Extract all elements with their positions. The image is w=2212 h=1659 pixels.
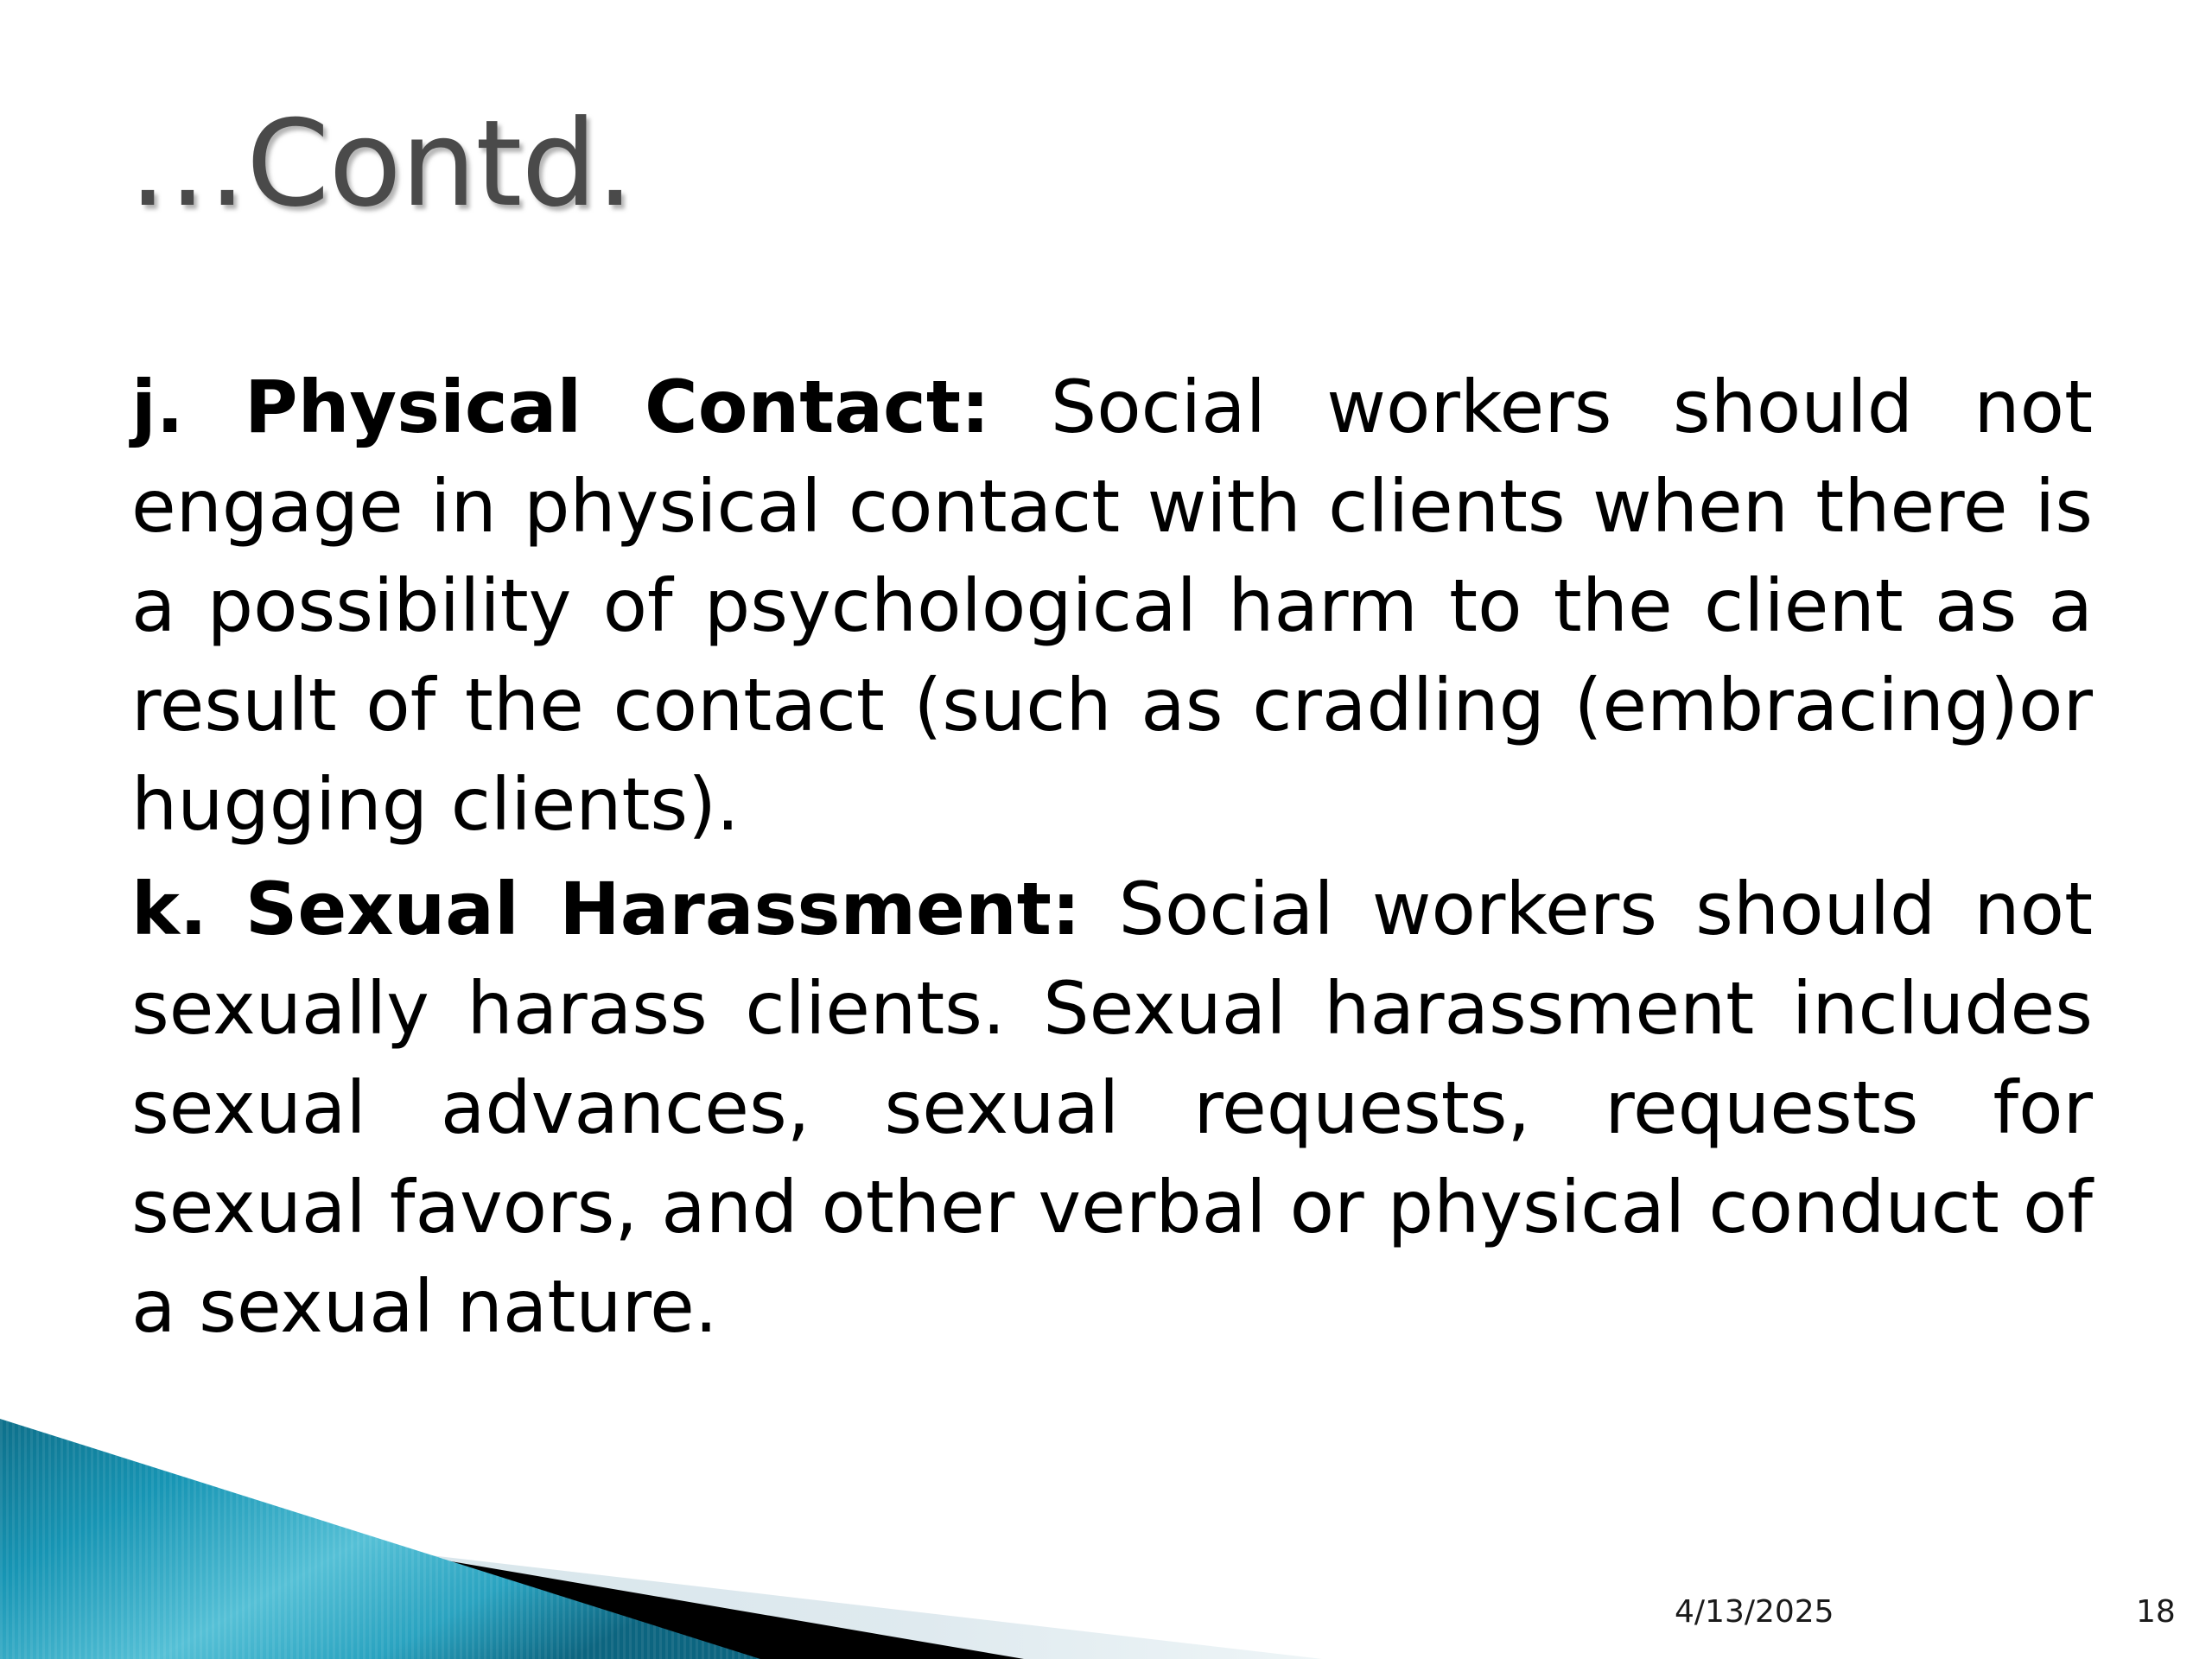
paragraph-j-spacer [184,365,245,449]
paragraph-k-spacer [207,867,245,951]
paragraph-j-term: j. [131,365,184,449]
paragraph-k-bold-term: Sexual Harassment: [245,867,1081,951]
paragraph-j-bold-term: Physical Contact: [245,365,990,449]
footer-date: 4/13/2025 [1675,1594,1834,1630]
teal-triangle-stripes [0,1419,760,1659]
paragraph-k: k. Sexual Harassment: Social workers sho… [131,860,2093,1357]
footer-page-number: 18 [2136,1594,2176,1630]
pale-band-shape [0,1505,1322,1659]
corner-decoration [0,1382,1382,1659]
page-title: …Contd. [128,102,633,227]
teal-triangle-shape [0,1419,760,1659]
paragraph-j-label: j. [131,365,184,449]
black-stripe-shape [0,1484,1024,1659]
slide: …Contd. j. Physical Contact: Social work… [0,0,2212,1659]
paragraph-k-label: k. [131,867,207,951]
paragraph-j: j. Physical Contact: Social workers shou… [131,358,2093,855]
corner-banner-svg [0,1382,1382,1659]
body-content: j. Physical Contact: Social workers shou… [131,358,2093,1357]
